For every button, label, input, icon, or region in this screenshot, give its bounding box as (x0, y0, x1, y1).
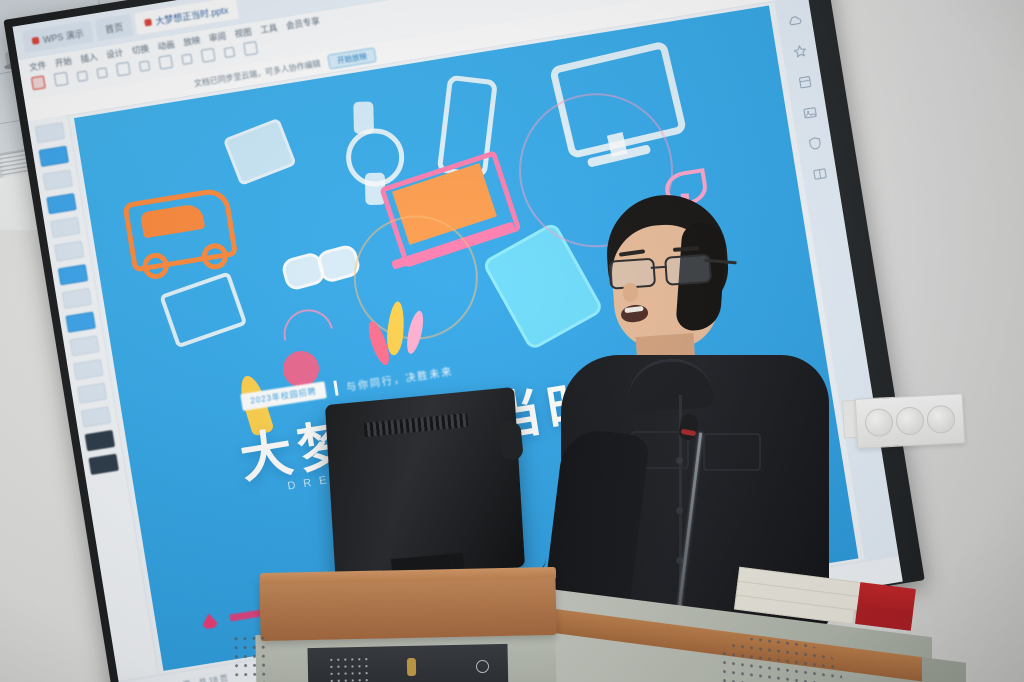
socket-2[interactable] (895, 406, 924, 435)
presenter-nose (623, 283, 638, 302)
ribbon-menu-item[interactable]: 会员专享 (285, 15, 320, 32)
jacket-pocket (703, 433, 761, 471)
ribbon-menu-item[interactable]: 设计 (105, 46, 124, 61)
paragraph-icon[interactable] (116, 62, 131, 77)
start-slideshow-button[interactable]: 开始放映 (327, 47, 377, 69)
cloud-sync-icon[interactable] (786, 13, 803, 30)
speaker-grille (231, 634, 266, 682)
slide-thumbnail[interactable] (81, 406, 111, 427)
ribbon-menu-item[interactable]: 审阅 (208, 30, 227, 45)
monitor-connector (498, 421, 524, 461)
notes-icon[interactable] (243, 41, 258, 56)
ribbon-menu-item[interactable]: 工具 (259, 22, 278, 37)
template-icon[interactable] (796, 74, 813, 91)
slide-thumbnail[interactable] (35, 122, 65, 143)
ribbon-menu-item[interactable]: 文件 (28, 59, 47, 74)
bullet-list-icon[interactable] (139, 60, 150, 71)
ribbon-menu-item[interactable]: 开始 (54, 55, 73, 70)
tab-app[interactable]: WPS 演示 (21, 20, 94, 53)
watch-band (353, 102, 374, 134)
slide-thumbnail[interactable] (54, 240, 84, 261)
lectern-side (922, 657, 966, 682)
tab-label: 首页 (104, 20, 124, 36)
tablet-icon (223, 118, 297, 186)
ribbon-menu-item[interactable]: 放映 (182, 34, 201, 49)
shape-icon[interactable] (158, 55, 173, 70)
lectern (232, 560, 932, 682)
align-icon[interactable] (181, 53, 192, 64)
arrange-icon[interactable] (201, 48, 216, 63)
font-icon[interactable] (54, 72, 69, 87)
bold-icon[interactable] (77, 70, 88, 81)
laptop-icon (159, 271, 247, 348)
slide-thumbnail[interactable] (73, 359, 103, 380)
tab-label: WPS 演示 (42, 26, 85, 45)
slide-thumbnail[interactable] (85, 430, 115, 451)
presenter (575, 195, 845, 615)
ribbon-menu-item[interactable]: 插入 (80, 51, 99, 66)
slide-thumbnail[interactable] (39, 146, 69, 167)
screenshot-root: 7 | WPS 演示 首页 大梦想正当时.pptx 立即开通会员 – ❐ ✕ (0, 0, 1024, 682)
jacket-button (676, 457, 683, 464)
slide-thumbnail[interactable] (46, 193, 76, 214)
jacket-button (676, 507, 683, 514)
paste-icon[interactable] (31, 75, 46, 90)
slide-thumbnail[interactable] (42, 169, 72, 190)
huawei-logo-icon (201, 612, 218, 629)
slide-thumbnail[interactable] (69, 335, 99, 356)
book-icon[interactable] (811, 166, 828, 183)
slide-thumbnail[interactable] (50, 217, 80, 238)
socket-3[interactable] (926, 405, 955, 434)
italic-icon[interactable] (96, 67, 107, 78)
ribbon-menu-item[interactable]: 视图 (234, 26, 253, 41)
podium-monitor (330, 396, 520, 576)
shield-icon[interactable] (806, 135, 823, 152)
slide-thumbnail[interactable] (62, 288, 92, 309)
slide-thumbnail[interactable] (77, 383, 107, 404)
ribbon-menu-item[interactable]: 动画 (157, 38, 176, 53)
socket-1[interactable] (864, 408, 893, 437)
slide-thumbnail[interactable] (89, 454, 119, 475)
favorite-icon[interactable] (791, 43, 808, 60)
slide-thumbnail[interactable] (65, 312, 95, 333)
ribbon-menu-item[interactable]: 切换 (131, 42, 150, 57)
wall-socket-plate (855, 393, 965, 449)
tab-home[interactable]: 首页 (94, 14, 133, 41)
play-icon[interactable] (224, 46, 235, 57)
banner-separator (333, 380, 338, 395)
slide-count-label: 第 1 页，共 18 页 (165, 673, 228, 682)
panel-buttons[interactable] (328, 656, 373, 682)
slide-thumbnail[interactable] (58, 264, 88, 285)
picture-icon[interactable] (801, 104, 818, 121)
panel-knob[interactable] (407, 658, 416, 676)
tab-label: 大梦想正当时.pptx (154, 3, 229, 28)
